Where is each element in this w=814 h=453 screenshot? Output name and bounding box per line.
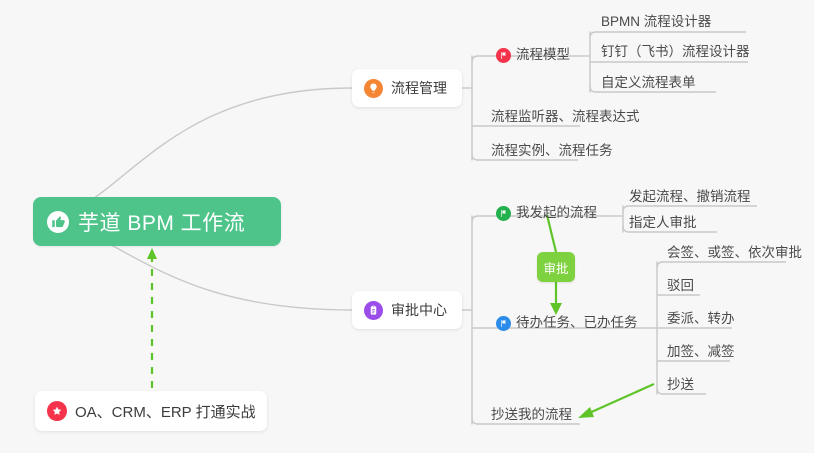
leaf-countersign[interactable]: 会签、或签、依次审批 (663, 242, 806, 267)
branch-node-process-management[interactable]: 流程管理 (352, 69, 462, 107)
leaf-dingtalk-feishu-designer[interactable]: 钉钉（飞书）流程设计器 (597, 41, 754, 66)
leaf-delegate-transfer[interactable]: 委派、转办 (663, 308, 739, 333)
root-node[interactable]: 芋道 BPM 工作流 (33, 197, 281, 246)
leaf-todo-done-tasks[interactable]: 待办任务、已办任务 (492, 312, 642, 337)
mindmap-canvas: 芋道 BPM 工作流 流程管理 审批中心 OA、CRM、ERP 打通实战 审批 (0, 0, 814, 453)
leaf-custom-form[interactable]: 自定义流程表单 (597, 72, 700, 97)
leaf-my-initiated-process[interactable]: 我发起的流程 (492, 202, 601, 227)
leaf-reject[interactable]: 驳回 (663, 275, 698, 300)
leaf-designated-approval[interactable]: 指定人审批 (625, 212, 701, 237)
star-icon (47, 401, 67, 421)
leaf-carbon-copy[interactable]: 抄送 (663, 374, 698, 399)
approval-badge[interactable]: 审批 (537, 252, 575, 282)
leaf-instance-task[interactable]: 流程实例、流程任务 (487, 140, 617, 165)
thumbs-up-icon (47, 211, 69, 233)
leaf-cc-my-process[interactable]: 抄送我的流程 (487, 404, 576, 429)
branch-label: 流程管理 (391, 78, 447, 98)
bottom-note-node[interactable]: OA、CRM、ERP 打通实战 (35, 391, 267, 431)
clipboard-icon (364, 301, 383, 320)
lightbulb-icon (364, 79, 383, 98)
branch-node-approval-center[interactable]: 审批中心 (352, 291, 462, 329)
leaf-initiate-cancel[interactable]: 发起流程、撤销流程 (625, 186, 755, 211)
leaf-listener-expression[interactable]: 流程监听器、流程表达式 (487, 106, 644, 131)
bottom-note-label: OA、CRM、ERP 打通实战 (75, 401, 256, 422)
leaf-add-remove-sign[interactable]: 加签、减签 (663, 341, 739, 366)
dashed-green-arrow (147, 248, 157, 388)
root-label: 芋道 BPM 工作流 (78, 207, 245, 237)
leaf-bpmn-designer[interactable]: BPMN 流程设计器 (597, 11, 715, 36)
leaf-process-model[interactable]: 流程模型 (492, 44, 574, 69)
branch-label: 审批中心 (391, 300, 447, 320)
carbon-copy-arrow (578, 384, 654, 418)
